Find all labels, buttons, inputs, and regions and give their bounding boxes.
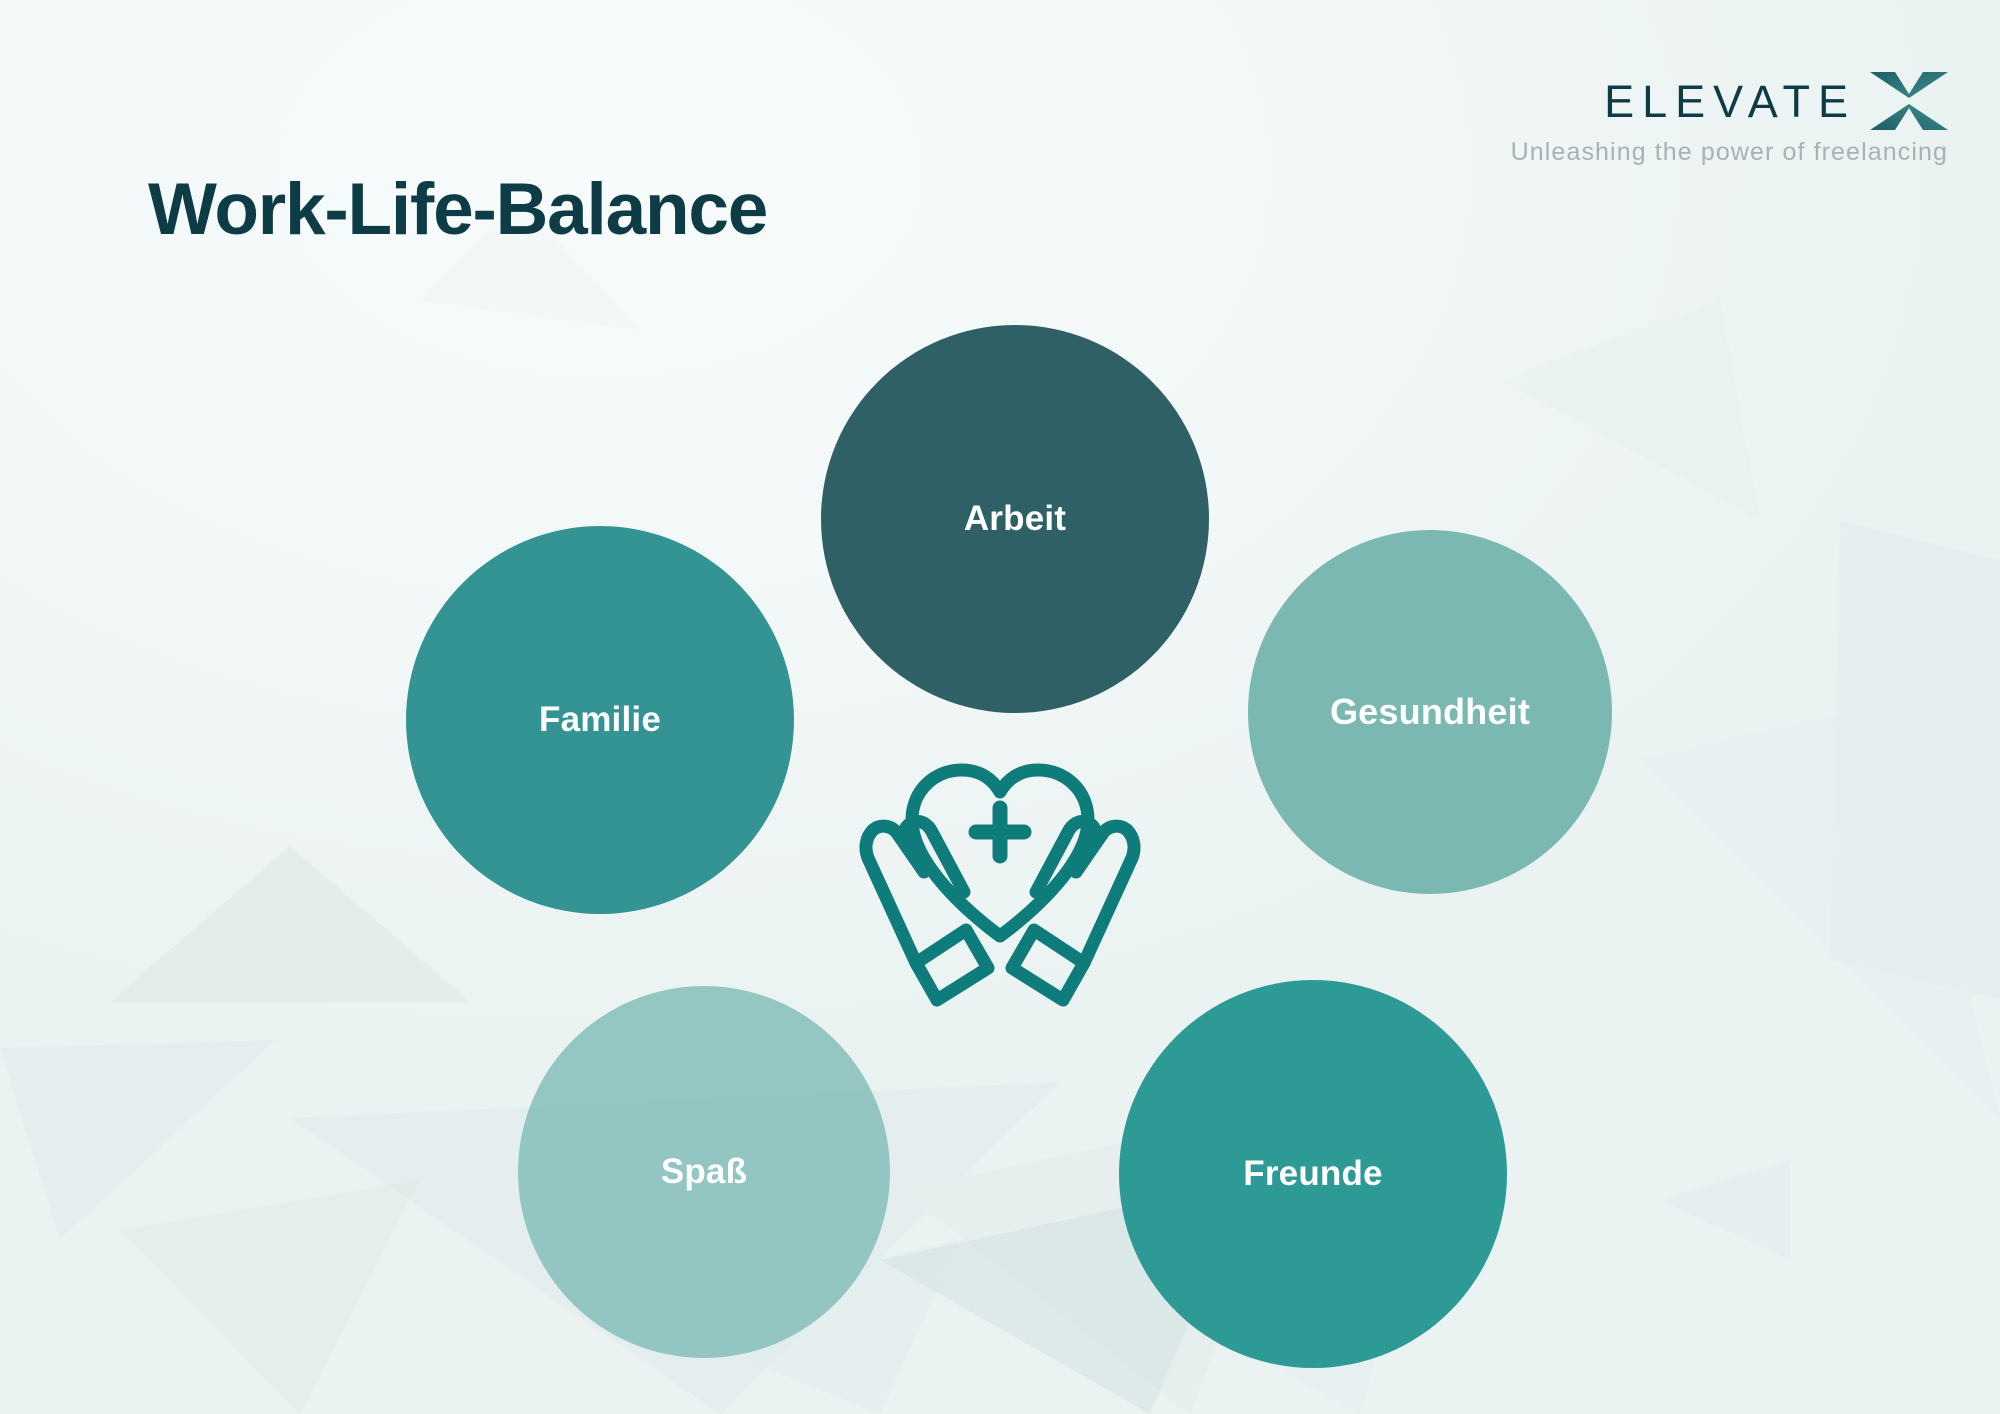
brand-x-mark-icon: [1870, 72, 1948, 130]
page-title: Work-Life-Balance: [148, 168, 767, 251]
diagram-node-spass[interactable]: Spaß: [518, 986, 890, 1358]
hands-holding-heart-plus-icon: [840, 720, 1160, 1020]
diagram-node-label: Gesundheit: [1330, 691, 1530, 733]
brand-tagline: Unleashing the power of freelancing: [1388, 138, 1948, 167]
diagram-node-label: Arbeit: [964, 499, 1066, 539]
diagram-node-label: Spaß: [661, 1152, 747, 1192]
diagram-node-familie[interactable]: Familie: [406, 526, 794, 914]
brand-logo[interactable]: ELEVATE Unleashing the power of freelanc…: [1388, 72, 1948, 167]
diagram-node-label: Freunde: [1243, 1154, 1382, 1194]
brand-wordmark-row: ELEVATE: [1388, 72, 1948, 130]
diagram-node-gesundheit[interactable]: Gesundheit: [1248, 530, 1612, 894]
diagram-node-arbeit[interactable]: Arbeit: [821, 325, 1209, 713]
brand-wordmark-text: ELEVATE: [1604, 79, 1856, 124]
slide-canvas: Work-Life-Balance ELEVATE U: [0, 0, 2000, 1414]
diagram-node-freunde[interactable]: Freunde: [1119, 980, 1507, 1368]
diagram-node-label: Familie: [539, 700, 661, 740]
